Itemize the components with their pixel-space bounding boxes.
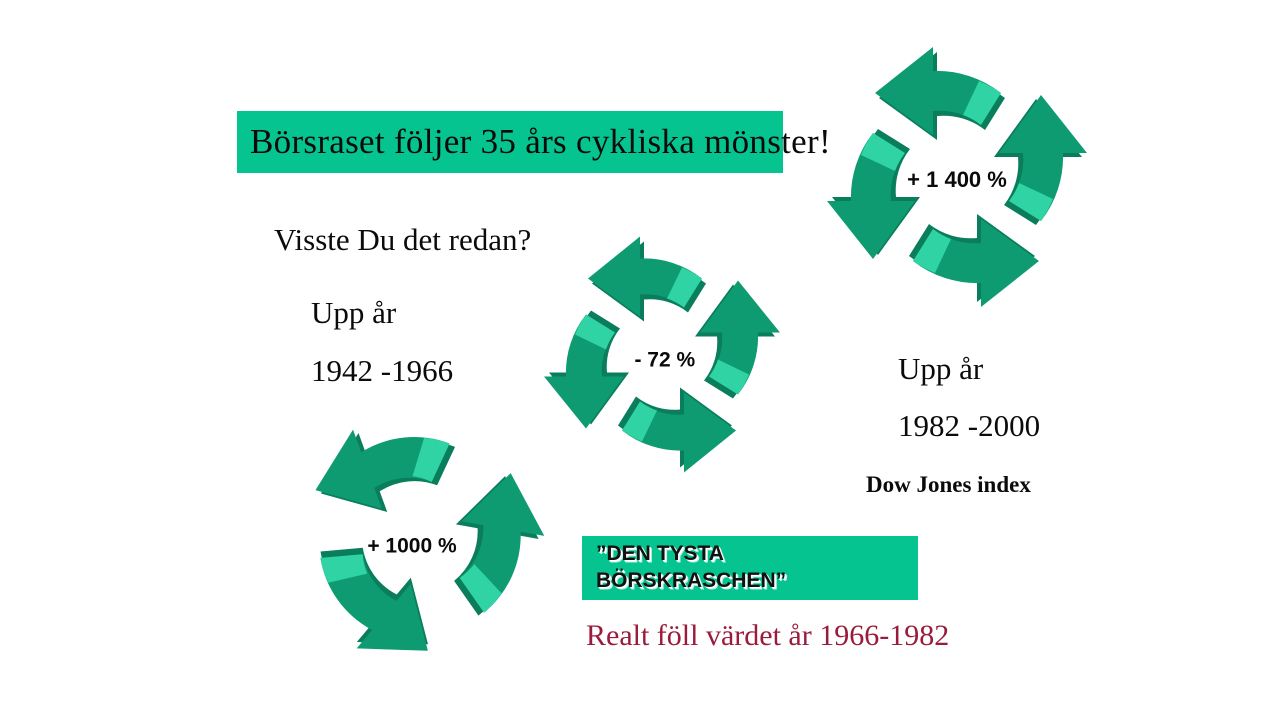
right-period-label: Upp år bbox=[898, 353, 983, 384]
cycle-arrow-2 bbox=[695, 281, 780, 399]
cycle-label-top-right: + 1 400 % bbox=[907, 169, 1007, 191]
crash-banner-text: ”DEN TYSTA BÖRSKRASCHEN” bbox=[596, 541, 786, 595]
title-banner: Börsraset följer 35 års cykliska mönster… bbox=[237, 111, 783, 173]
cycle-diagram-top-right: + 1 400 % bbox=[802, 22, 1112, 332]
left-period-label: Upp år bbox=[311, 297, 396, 328]
crash-banner: ”DEN TYSTA BÖRSKRASCHEN” bbox=[582, 536, 918, 600]
cycle-label-bottom-left: + 1000 % bbox=[367, 536, 456, 557]
crash-banner-line-1: ”DEN TYSTA bbox=[596, 541, 786, 568]
cycle-arrow-4 bbox=[827, 129, 920, 259]
cycle-arrow-2 bbox=[994, 95, 1087, 225]
cycle-diagram-bottom-left: + 1000 % bbox=[268, 398, 568, 678]
slide-canvas: Börsraset följer 35 års cykliska mönster… bbox=[0, 0, 1280, 720]
cycle-arrow-1 bbox=[875, 47, 1005, 140]
cycle-label-middle: - 72 % bbox=[634, 350, 695, 371]
title-banner-text: Börsraset följer 35 års cykliska mönster… bbox=[250, 124, 831, 161]
real-fall-text: Realt föll värdet år 1966-1982 bbox=[586, 621, 949, 651]
crash-banner-line-2: BÖRSKRASCHEN” bbox=[596, 568, 786, 595]
cycle-arrow-1 bbox=[588, 237, 706, 322]
cycle-arrow-1 bbox=[300, 399, 468, 533]
right-period-years: 1982 -2000 bbox=[898, 410, 1040, 441]
index-caption: Dow Jones index bbox=[866, 473, 1031, 496]
cycle-arrow-2 bbox=[441, 465, 554, 624]
left-period-years: 1942 -1966 bbox=[311, 355, 453, 386]
cycle-arrow-3 bbox=[618, 388, 736, 473]
did-you-know-text: Visste Du det redan? bbox=[274, 224, 531, 255]
cycle-arrow-3 bbox=[909, 214, 1039, 307]
